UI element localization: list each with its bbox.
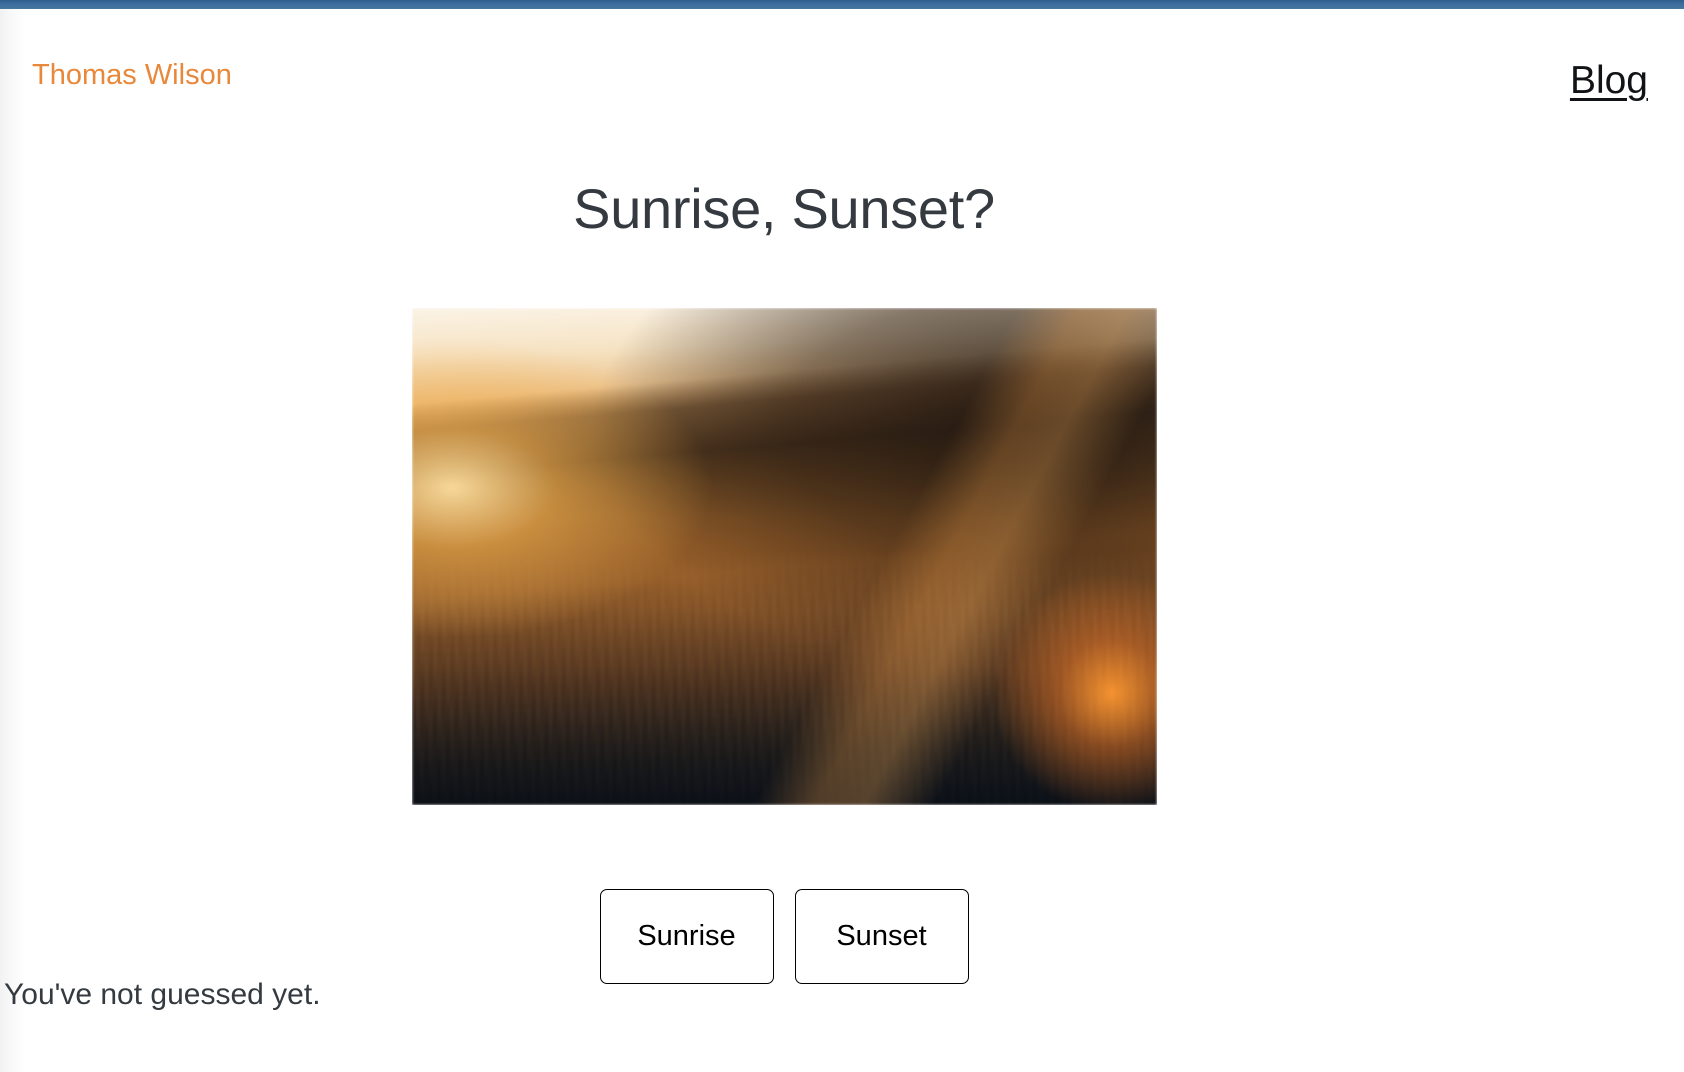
- top-accent-bar: [0, 0, 1684, 9]
- sunset-photo: [412, 308, 1157, 805]
- sunset-photo-grass-texture: [412, 547, 1157, 805]
- brand-link[interactable]: Thomas Wilson: [32, 61, 232, 90]
- main-nav: Blog: [1570, 61, 1648, 100]
- page-root: Thomas Wilson Blog Sunrise, Sunset? Sunr…: [0, 0, 1684, 1072]
- page-title: Sunrise, Sunset?: [0, 178, 1568, 240]
- nav-link-blog[interactable]: Blog: [1570, 59, 1648, 102]
- sunset-button[interactable]: Sunset: [795, 889, 969, 984]
- guess-button-row: Sunrise Sunset: [0, 889, 1568, 984]
- site-header: Thomas Wilson Blog: [0, 9, 1684, 121]
- guess-result-text: You've not guessed yet.: [4, 977, 321, 1013]
- sunrise-button[interactable]: Sunrise: [600, 889, 774, 984]
